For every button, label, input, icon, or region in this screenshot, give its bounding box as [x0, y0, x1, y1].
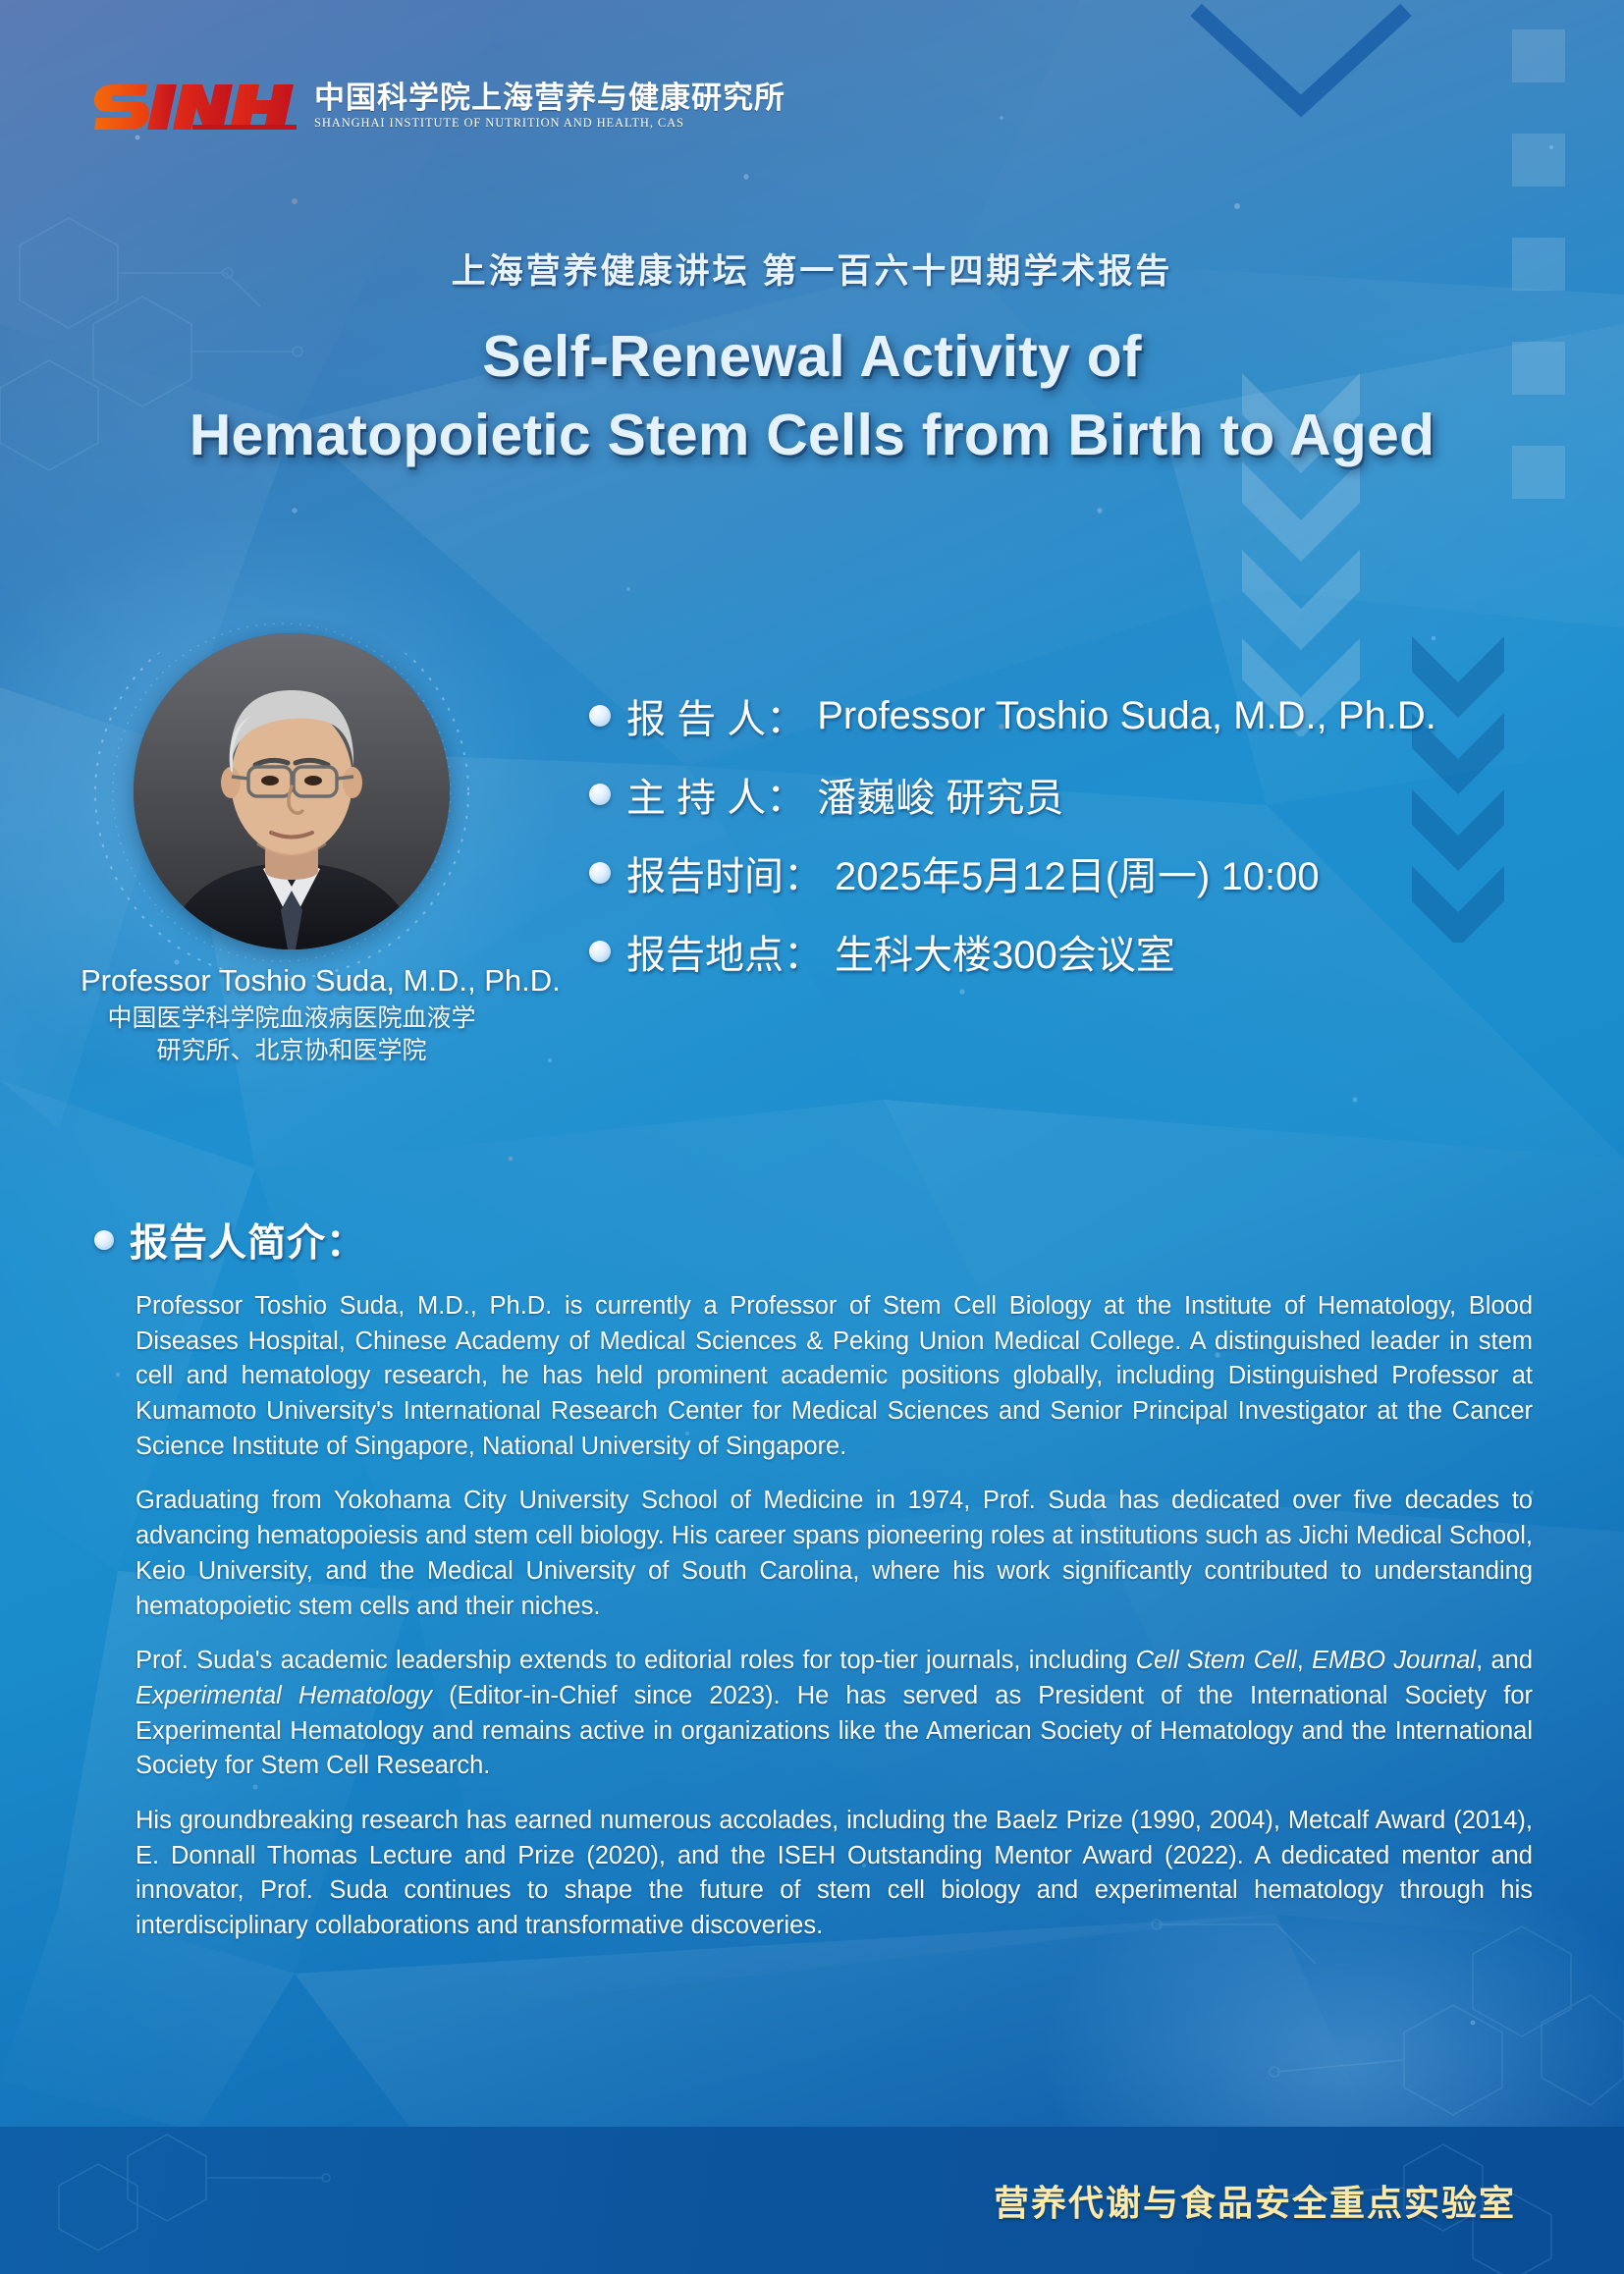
speaker-portrait-block: Professor Toshio Suda, M.D., Ph.D. 中国医学科…: [81, 633, 503, 1067]
info-label: 报告地点：: [626, 923, 823, 980]
info-row-speaker: 报 告 人： Professor Toshio Suda, M.D., Ph.D…: [589, 687, 1436, 744]
info-row-host: 主 持 人： 潘巍峻 研究员: [589, 766, 1436, 823]
lab-name: 营养代谢与食品安全重点实验室: [994, 2175, 1516, 2226]
institute-name-en: SHANGHAI INSTITUTE OF NUTRITION AND HEAL…: [314, 117, 785, 130]
bullet-icon: [94, 1230, 114, 1250]
info-value-venue: 生科大楼300会议室: [835, 923, 1175, 980]
speaker-bio-section: 报告人简介： Professor Toshio Suda, M.D., Ph.D…: [94, 1213, 1533, 1964]
portrait-caption-cn-line2: 研究所、北京协和医学院: [81, 1035, 503, 1067]
bullet-icon: [589, 784, 611, 805]
sinh-logo-icon: [94, 77, 298, 135]
lecture-series-kicker: 上海营养健康讲坛 第一百六十四期学术报告: [0, 244, 1624, 294]
institute-name-cn: 中国科学院上海营养与健康研究所: [314, 82, 785, 115]
header-logo-block: 中国科学院上海营养与健康研究所 SHANGHAI INSTITUTE OF NU…: [94, 77, 785, 135]
info-value-speaker: Professor Toshio Suda, M.D., Ph.D.: [817, 694, 1436, 738]
info-row-venue: 报告地点： 生科大楼300会议室: [589, 923, 1436, 980]
bio-paragraph: Graduating from Yokohama City University…: [135, 1484, 1533, 1624]
bullet-icon: [589, 941, 611, 962]
bio-paragraph: Prof. Suda's academic leadership extends…: [135, 1644, 1533, 1784]
poster-root: 中国科学院上海营养与健康研究所 SHANGHAI INSTITUTE OF NU…: [0, 0, 1624, 2274]
bullet-icon: [589, 862, 611, 884]
info-label: 报 告 人：: [626, 687, 805, 744]
info-value-host: 潘巍峻 研究员: [817, 766, 1063, 823]
bio-heading-row: 报告人简介：: [94, 1213, 1533, 1268]
title-block: 上海营养健康讲坛 第一百六十四期学术报告 Self-Renewal Activi…: [0, 244, 1624, 474]
bullet-icon: [589, 705, 611, 727]
bio-paragraph: Professor Toshio Suda, M.D., Ph.D. is cu…: [135, 1289, 1533, 1464]
chevron-arrow-decor: [1178, 0, 1424, 128]
portrait-caption-en: Professor Toshio Suda, M.D., Ph.D.: [81, 963, 503, 999]
footer-bar: 营养代谢与食品安全重点实验室: [0, 2127, 1624, 2274]
bio-paragraphs: Professor Toshio Suda, M.D., Ph.D. is cu…: [94, 1289, 1533, 1944]
talk-info-list: 报 告 人： Professor Toshio Suda, M.D., Ph.D…: [589, 687, 1436, 1002]
bio-paragraph: His groundbreaking research has earned n…: [135, 1804, 1533, 1944]
bio-heading: 报告人简介：: [130, 1213, 365, 1268]
avatar: [134, 633, 450, 949]
info-row-time: 报告时间： 2025年5月12日(周一) 10:00: [589, 844, 1436, 901]
talk-title-line1: Self-Renewal Activity of: [0, 319, 1624, 396]
info-label: 主 持 人：: [626, 766, 805, 823]
portrait-caption-cn-line1: 中国医学科学院血液病医院血液学: [81, 1002, 503, 1035]
talk-title-line2: Hematopoietic Stem Cells from Birth to A…: [0, 398, 1624, 474]
info-value-time: 2025年5月12日(周一) 10:00: [835, 844, 1320, 901]
info-label: 报告时间：: [626, 844, 823, 901]
